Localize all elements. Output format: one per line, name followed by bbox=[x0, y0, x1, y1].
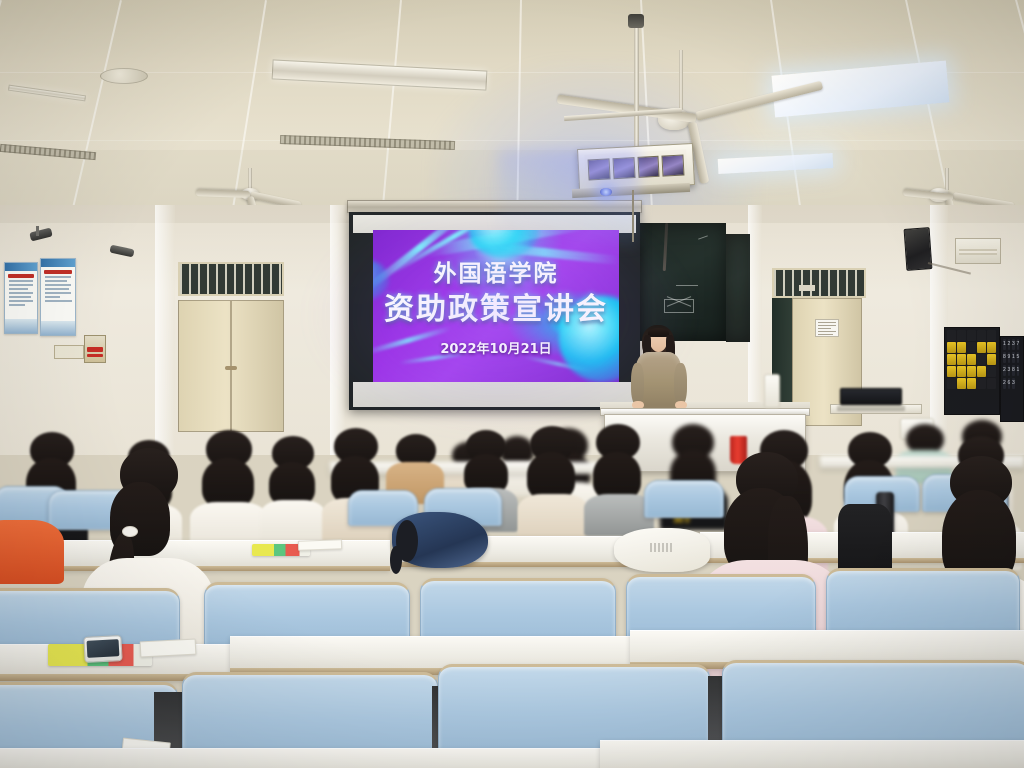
slide-line-1: 外国语学院 bbox=[373, 254, 619, 288]
loose-papers bbox=[298, 539, 342, 551]
wall-unit bbox=[955, 238, 1001, 264]
fire-safety-sign bbox=[84, 335, 106, 363]
phone-pocket-organizer: 123 789 152 381 263 bbox=[1000, 336, 1024, 422]
white-object bbox=[764, 374, 780, 408]
phone-pocket-organizer bbox=[944, 327, 1000, 415]
notice-board-left bbox=[4, 262, 38, 334]
desk-row-5-foreground bbox=[600, 740, 1024, 768]
presenter-at-podium bbox=[630, 325, 686, 413]
smartphone[interactable] bbox=[83, 635, 122, 663]
projector-mount bbox=[634, 18, 639, 158]
door-notice bbox=[815, 319, 839, 337]
slide-date: 2022年10月21日 bbox=[373, 338, 619, 357]
chalkboard bbox=[638, 223, 726, 341]
ceiling-light-panel bbox=[8, 85, 86, 102]
ceiling-fan bbox=[600, 50, 860, 155]
desk-row-5-foreground bbox=[0, 748, 610, 768]
door-transom-left bbox=[178, 262, 284, 296]
door-left[interactable] bbox=[178, 300, 284, 432]
ceiling-diffuser-icon bbox=[100, 68, 148, 84]
laptop bbox=[840, 388, 902, 405]
white-jacket bbox=[614, 528, 710, 572]
small-wall-label bbox=[54, 345, 84, 359]
backpack bbox=[392, 512, 488, 568]
mount-bracket bbox=[628, 14, 644, 28]
notice-board-right bbox=[40, 258, 76, 336]
door-transom-right bbox=[772, 268, 866, 298]
slide-line-2: 资助政策宣讲会 bbox=[373, 284, 619, 328]
pointer-stick bbox=[663, 223, 669, 271]
chalkboard-side-panel bbox=[726, 234, 750, 342]
ceiling-vent bbox=[280, 135, 455, 150]
camera-mount bbox=[36, 226, 39, 236]
seatback[interactable] bbox=[644, 480, 724, 518]
hair-scrunchie bbox=[122, 526, 138, 537]
classroom-photo: 123 789 152 381 263 外国语学院 资 bbox=[0, 0, 1024, 768]
presentation-slide: 外国语学院 资助政策宣讲会 2022年10月21日 bbox=[373, 230, 619, 382]
projector-beam bbox=[498, 150, 638, 245]
loose-papers bbox=[140, 639, 197, 658]
